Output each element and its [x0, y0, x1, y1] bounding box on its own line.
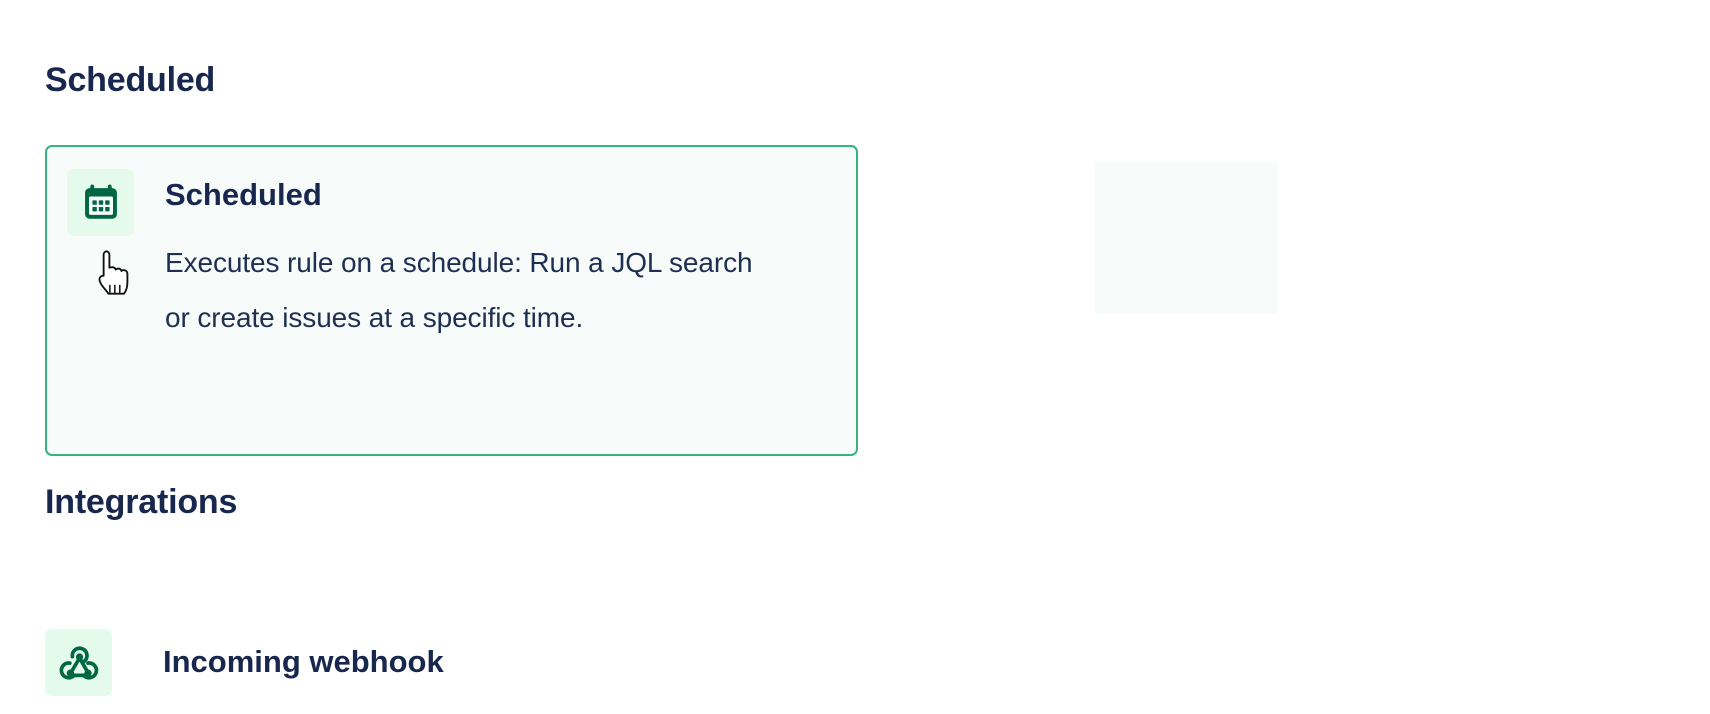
section-heading-integrations: Integrations	[45, 484, 237, 521]
trigger-card-title: Scheduled	[165, 175, 322, 215]
ghost-placeholder-panel	[1095, 162, 1278, 314]
trigger-picker-panel: Scheduled Scheduled Executes rule on a s…	[0, 0, 1710, 714]
section-heading-scheduled: Scheduled	[45, 62, 215, 99]
calendar-icon	[80, 182, 122, 224]
integration-item-incoming-webhook[interactable]: Incoming webhook	[45, 622, 444, 702]
calendar-icon-tile	[67, 169, 134, 236]
trigger-card-scheduled[interactable]: Scheduled Executes rule on a schedule: R…	[45, 145, 858, 456]
trigger-card-description: Executes rule on a schedule: Run a JQL s…	[165, 235, 765, 346]
integration-item-label: Incoming webhook	[163, 643, 444, 680]
webhook-icon	[57, 640, 101, 684]
webhook-icon-tile	[45, 629, 112, 696]
